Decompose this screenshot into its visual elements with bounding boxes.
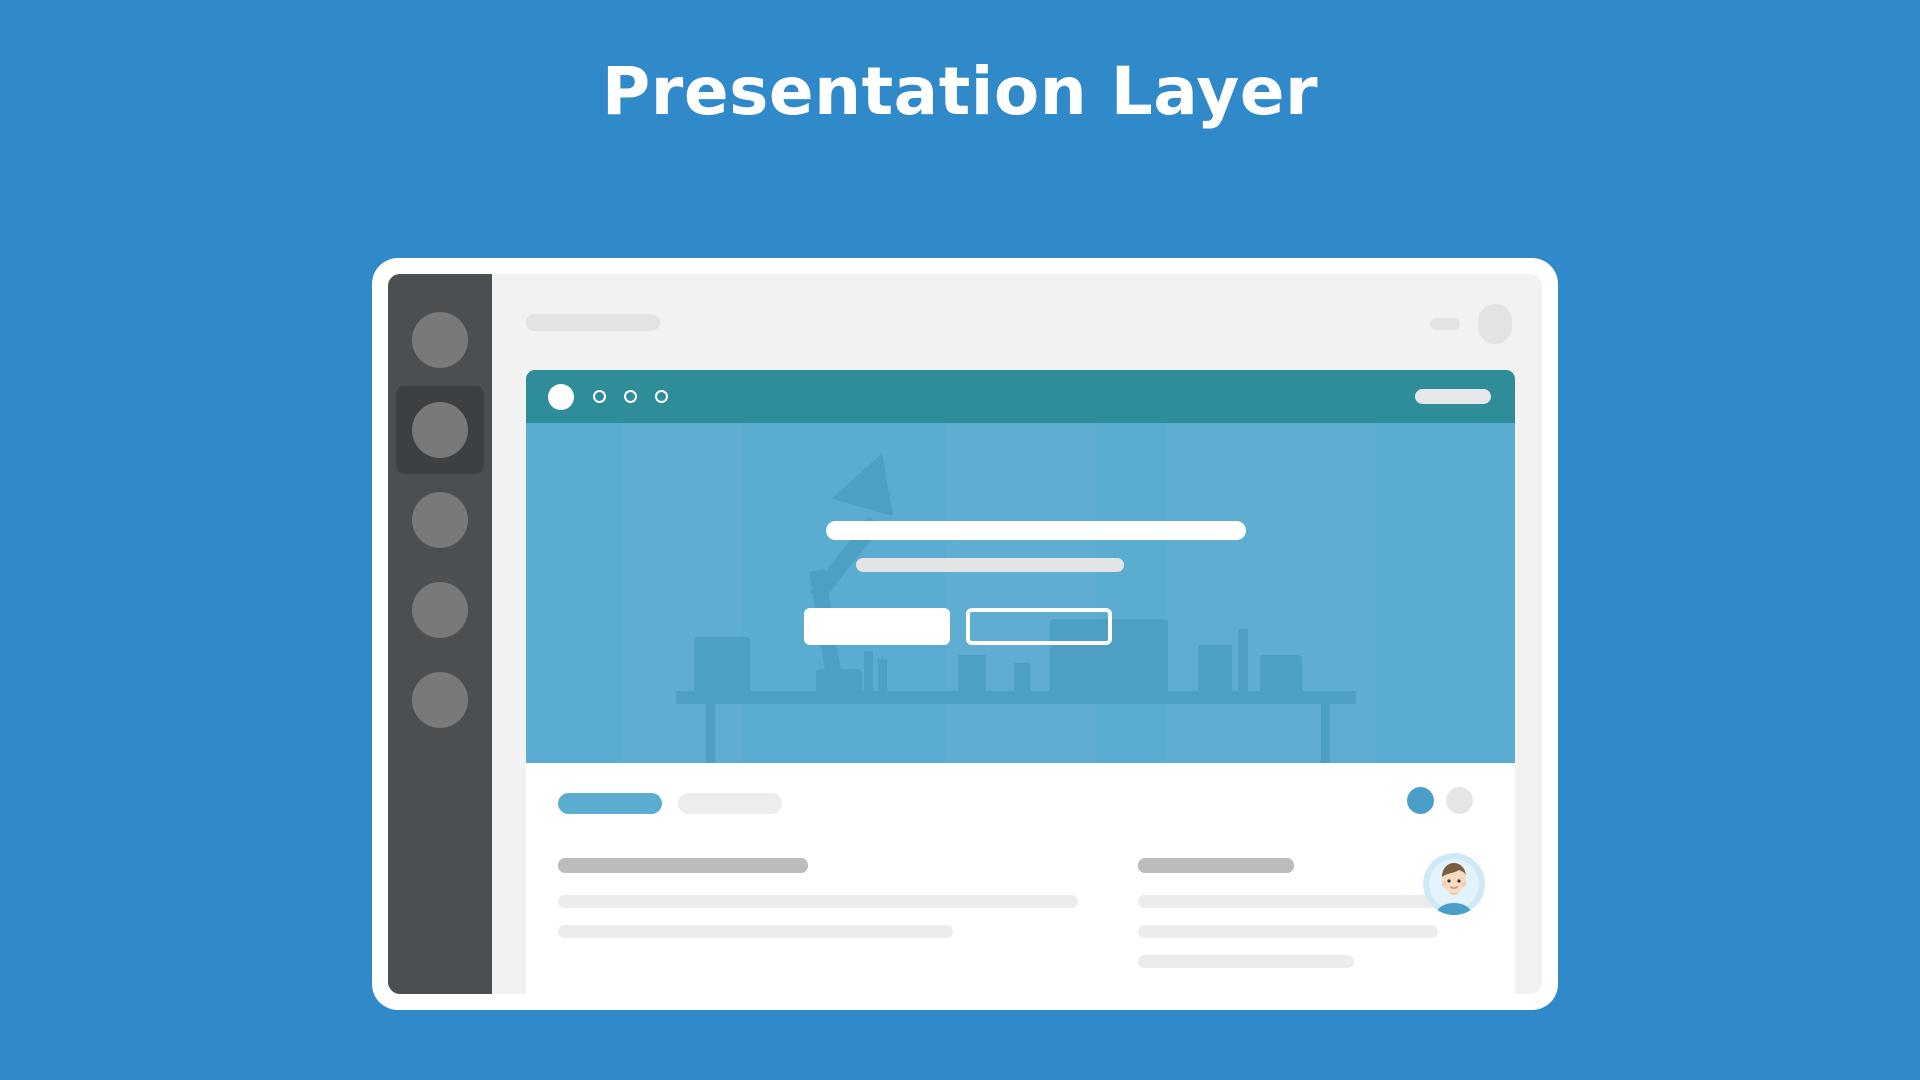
app-panel: [492, 274, 1542, 994]
window-controls: [1430, 304, 1512, 344]
user-avatar-icon[interactable]: [1423, 853, 1485, 915]
sidebar-item-3[interactable]: [396, 476, 484, 564]
circle-icon: [412, 312, 468, 368]
hero-buttons: [804, 608, 1246, 645]
app-title-placeholder: [526, 314, 660, 331]
desk-prop-cup: [958, 655, 986, 693]
left-column-line-2: [558, 925, 953, 938]
right-column-line-2: [1138, 925, 1438, 938]
device-screen: [388, 274, 1542, 994]
hero-section: [526, 423, 1515, 763]
hero-copy: [826, 521, 1246, 645]
tab-1[interactable]: [558, 793, 662, 814]
desk-prop-pencil-2: [878, 659, 887, 693]
logo-dot-icon[interactable]: [548, 384, 574, 410]
page-dot-2[interactable]: [1446, 787, 1473, 814]
hero-headline-placeholder: [826, 521, 1246, 540]
sidebar: [388, 274, 492, 994]
lamp-base-icon: [816, 669, 862, 692]
header-cta-button[interactable]: [1415, 389, 1491, 404]
right-column-line-1: [1138, 895, 1438, 908]
desk-prop-plant: [1014, 663, 1030, 693]
page-title: Presentation Layer: [0, 56, 1920, 129]
circle-icon: [412, 402, 468, 458]
desk-prop-monitor: [694, 637, 750, 693]
left-column: [558, 858, 1078, 985]
circle-icon: [412, 672, 468, 728]
app-toolbar: [492, 274, 1542, 366]
circle-icon: [412, 582, 468, 638]
left-column-line-1: [558, 895, 1078, 908]
content-columns: [558, 858, 1475, 985]
desk-prop-box: [1260, 655, 1302, 693]
right-column-heading: [1138, 858, 1294, 873]
content-section: [526, 763, 1515, 994]
nav-dot-icon-2[interactable]: [624, 390, 637, 403]
content-tabs: [558, 793, 1475, 814]
sidebar-item-5[interactable]: [396, 656, 484, 744]
minimize-icon[interactable]: [1430, 318, 1460, 330]
primary-cta-button[interactable]: [804, 608, 950, 645]
sidebar-item-4[interactable]: [396, 566, 484, 654]
nav-dot-icon-1[interactable]: [593, 390, 606, 403]
desk-surface: [676, 691, 1356, 704]
circle-icon: [412, 492, 468, 548]
desk-prop-books: [1198, 645, 1232, 693]
desk-leg-left: [706, 704, 715, 763]
hero-subline-placeholder: [856, 558, 1124, 572]
desk-prop-pencil: [864, 651, 873, 693]
right-column: [1138, 858, 1438, 985]
tab-2[interactable]: [678, 793, 782, 814]
left-column-heading: [558, 858, 808, 873]
browser-header: [526, 370, 1515, 423]
device-frame: [372, 258, 1558, 1010]
desk-leg-right: [1321, 704, 1330, 763]
sidebar-item-1[interactable]: [396, 296, 484, 384]
sidebar-item-2[interactable]: [396, 386, 484, 474]
nav-dot-icon-3[interactable]: [655, 390, 668, 403]
page-dot-1[interactable]: [1407, 787, 1434, 814]
pagination-dots: [1407, 787, 1473, 814]
right-column-line-3: [1138, 955, 1354, 968]
avatar-icon[interactable]: [1478, 304, 1512, 344]
browser-card: [526, 370, 1515, 994]
secondary-cta-button[interactable]: [966, 608, 1112, 645]
